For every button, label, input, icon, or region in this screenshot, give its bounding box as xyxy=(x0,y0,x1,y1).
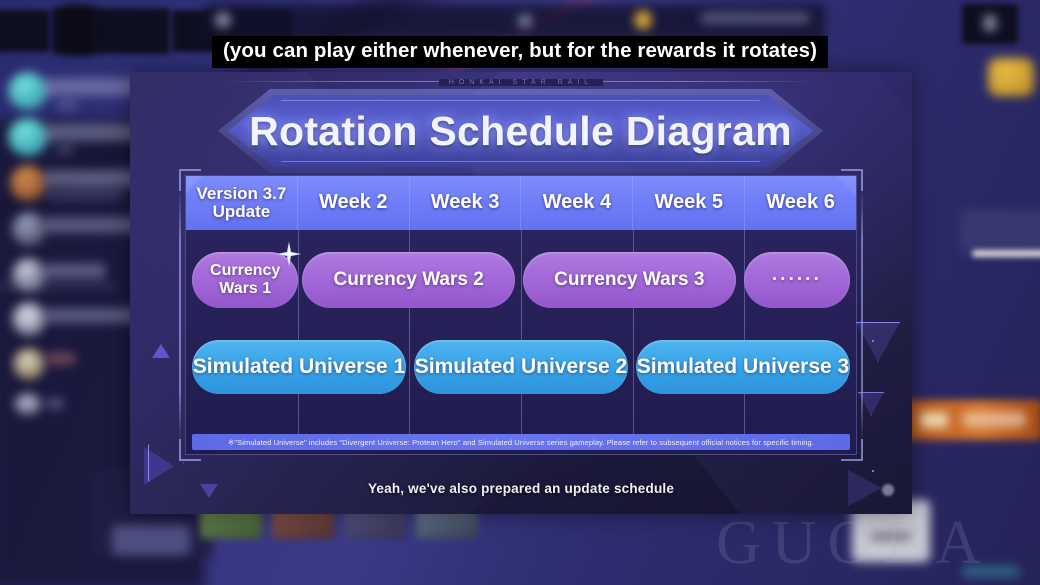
background-gold-item xyxy=(988,58,1034,96)
background-avatar-block xyxy=(60,6,94,54)
currency-wars-1-slot: Currency Wars 1 xyxy=(186,252,298,308)
simulated-universe-1-pill[interactable]: Simulated Universe 1 xyxy=(192,340,406,394)
background-top-icon xyxy=(983,14,997,32)
background-list-label xyxy=(46,352,76,365)
simulated-universe-row: Simulated Universe 1 Simulated Universe … xyxy=(186,340,856,394)
rotation-schedule-card: HONKAI STAR RAIL Rotation Schedule Diagr… xyxy=(130,72,912,514)
background-list-label xyxy=(44,263,106,279)
schedule-table: Version 3.7 Update Week 2 Week 3 Week 4 … xyxy=(185,175,857,455)
background-panel-strip xyxy=(960,210,1040,252)
header-version-line1: Version 3.7 xyxy=(197,184,287,203)
frame-edge-left xyxy=(179,189,181,441)
currency-wars-3-slot: Currency Wars 3 xyxy=(519,252,740,308)
background-bottom-button xyxy=(112,525,190,555)
currency-wars-2-slot: Currency Wars 2 xyxy=(298,252,519,308)
table-header-cell-week3: Week 3 xyxy=(410,176,522,230)
background-list-sublabel xyxy=(56,145,74,154)
title-banner: Rotation Schedule Diagram xyxy=(228,95,813,167)
table-header-cell-version: Version 3.7 Update xyxy=(186,176,298,230)
background-banner-label xyxy=(962,412,1026,427)
currency-wars-1-line2: Wars 1 xyxy=(219,280,271,297)
card-top-decor-text: HONKAI STAR RAIL xyxy=(439,79,603,86)
table-header-row: Version 3.7 Update Week 2 Week 3 Week 4 … xyxy=(186,176,856,230)
simulated-universe-3-slot: Simulated Universe 3 xyxy=(632,340,856,394)
background-list-icon xyxy=(8,72,48,110)
simulated-universe-2-pill[interactable]: Simulated Universe 2 xyxy=(414,340,628,394)
background-list-label xyxy=(44,217,142,233)
background-progress-bar xyxy=(700,12,810,24)
table-header-cell-week5: Week 5 xyxy=(633,176,745,230)
simulated-universe-2-slot: Simulated Universe 2 xyxy=(410,340,632,394)
background-banner-icon xyxy=(920,412,948,428)
background-list-icon xyxy=(8,118,48,156)
table-header-cell-week2: Week 2 xyxy=(298,176,410,230)
background-top-icon xyxy=(215,12,231,28)
header-version-line2: Update xyxy=(213,202,271,221)
background-list-icon xyxy=(10,165,46,201)
bottom-caption: Yeah, we've also prepared an update sche… xyxy=(130,481,912,496)
table-header-cell-week4: Week 4 xyxy=(521,176,633,230)
currency-wars-row: Currency Wars 1 Currency Wars 2 Currency… xyxy=(186,252,856,308)
background-list-icon xyxy=(13,348,45,380)
schedule-table-frame: Version 3.7 Update Week 2 Week 3 Week 4 … xyxy=(185,175,857,455)
background-list-icon xyxy=(14,393,42,415)
background-list-icon xyxy=(12,212,46,246)
background-list-sublabel xyxy=(44,188,124,200)
decor-triangle-up xyxy=(152,344,170,358)
background-list-label xyxy=(44,308,140,323)
currency-wars-1-pill[interactable]: Currency Wars 1 xyxy=(192,252,298,308)
table-footnote: ※"Simulated Universe" includes "Divergen… xyxy=(192,434,850,450)
subtitle-overlay: (you can play either whenever, but for t… xyxy=(212,36,828,68)
table-header-cell-week6: Week 6 xyxy=(745,176,856,230)
background-list-label xyxy=(46,398,64,409)
background-list-label xyxy=(44,78,136,96)
simulated-universe-1-slot: Simulated Universe 1 xyxy=(186,340,410,394)
background-list-sublabel xyxy=(56,100,78,110)
frame-edge-right xyxy=(861,189,863,441)
background-top-icon xyxy=(518,14,532,28)
page-title: Rotation Schedule Diagram xyxy=(228,95,813,167)
currency-wars-more-pill[interactable]: ······ xyxy=(744,252,850,308)
background-white-card-label xyxy=(870,532,912,541)
background-currency-icon xyxy=(634,10,652,30)
star-speck xyxy=(872,470,874,472)
background-list-icon xyxy=(12,302,46,336)
currency-wars-2-pill[interactable]: Currency Wars 2 xyxy=(302,252,515,308)
background-divider xyxy=(0,284,116,288)
simulated-universe-3-pill[interactable]: Simulated Universe 3 xyxy=(636,340,850,394)
background-panel-highlight xyxy=(972,250,1040,257)
background-corner-label xyxy=(962,566,1020,577)
currency-wars-more-slot: ······ xyxy=(740,252,856,308)
background-back-button xyxy=(0,10,50,52)
currency-wars-1-line1: Currency xyxy=(210,262,280,279)
currency-wars-3-pill[interactable]: Currency Wars 3 xyxy=(523,252,736,308)
